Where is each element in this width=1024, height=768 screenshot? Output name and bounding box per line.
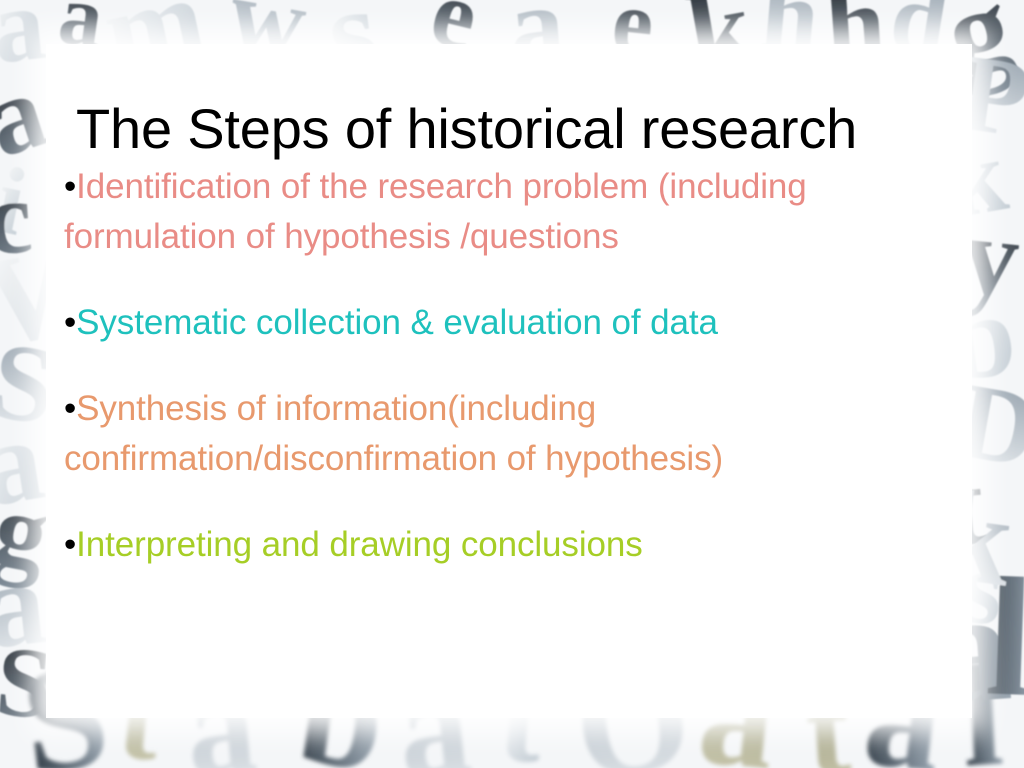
bullet-marker-icon: • xyxy=(64,389,76,428)
list-item: •Synthesis of information(including conf… xyxy=(64,384,958,484)
list-item: •Identification of the research problem … xyxy=(64,162,958,262)
list-item-label: Identification of the research problem (… xyxy=(64,167,807,256)
list-item-label: Synthesis of information(including confi… xyxy=(64,389,723,478)
list-item: •Interpreting and drawing conclusions xyxy=(64,520,958,570)
bullet-marker-icon: • xyxy=(64,167,76,206)
bullet-list: •Identification of the research problem … xyxy=(64,162,958,570)
content-panel: The Steps of historical research •Identi… xyxy=(46,44,972,718)
list-item: •Systematic collection & evaluation of d… xyxy=(64,298,958,348)
bullet-marker-icon: • xyxy=(64,525,76,564)
page-title: The Steps of historical research xyxy=(76,98,956,161)
bullet-marker-icon: • xyxy=(64,303,76,342)
slide-canvas: a a m w s e a e k h h d g a i c W S xyxy=(0,0,1024,768)
list-item-label: Systematic collection & evaluation of da… xyxy=(76,303,718,342)
list-item-label: Interpreting and drawing conclusions xyxy=(76,525,642,564)
